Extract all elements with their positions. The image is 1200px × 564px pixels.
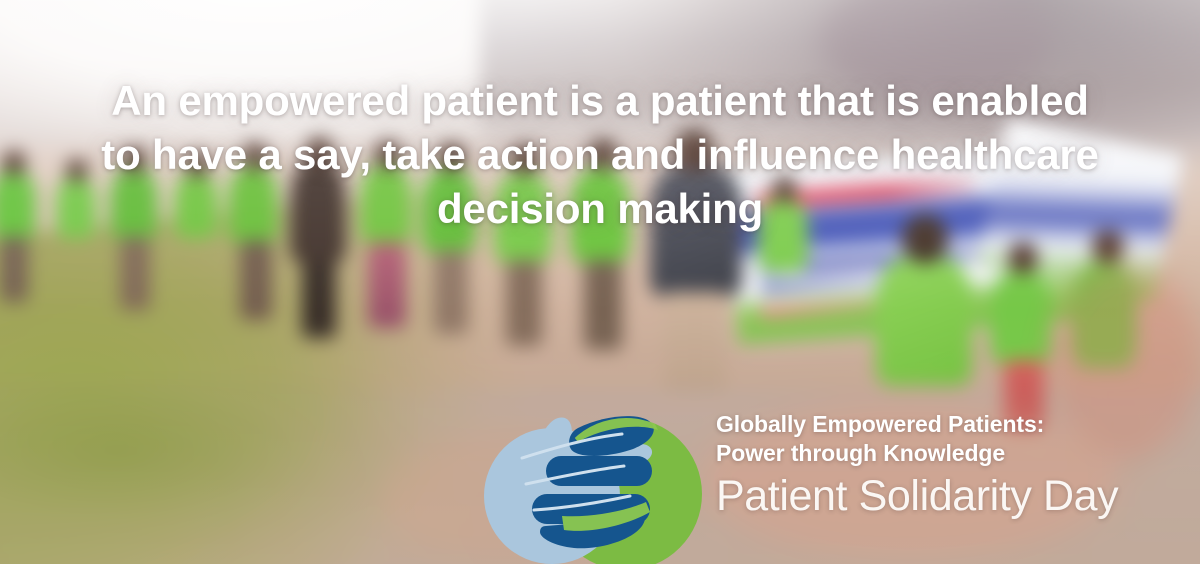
marcher-legs — [120, 236, 150, 310]
marcher-shirt — [990, 270, 1052, 366]
quote-line-3: decision making — [58, 182, 1142, 236]
quote-text: An empowered patient is a patient that i… — [0, 74, 1200, 236]
event-title: Patient Solidarity Day — [716, 470, 1200, 522]
marcher-banner-holder-shirt — [876, 256, 972, 386]
tagline-line-2: Power through Knowledge — [716, 439, 1200, 468]
patient-solidarity-day-banner: An empowered patient is a patient that i… — [0, 0, 1200, 564]
marcher-legs — [584, 260, 622, 350]
branding-block: Globally Empowered Patients: Power throu… — [716, 410, 1200, 522]
marcher-legs — [434, 250, 468, 334]
marcher-legs — [302, 260, 336, 338]
marcher-legs — [664, 292, 726, 392]
quote-line-2: to have a say, take action and influence… — [58, 128, 1142, 182]
tagline-line-1: Globally Empowered Patients: — [716, 410, 1200, 439]
marcher-head — [1008, 242, 1038, 274]
marcher-legs-skirt — [368, 242, 406, 328]
marcher-legs — [240, 240, 272, 320]
marcher-legs — [506, 260, 542, 346]
marcher-legs — [0, 236, 28, 302]
quote-line-1: An empowered patient is a patient that i… — [58, 74, 1142, 128]
patient-solidarity-day-logo — [474, 398, 710, 564]
